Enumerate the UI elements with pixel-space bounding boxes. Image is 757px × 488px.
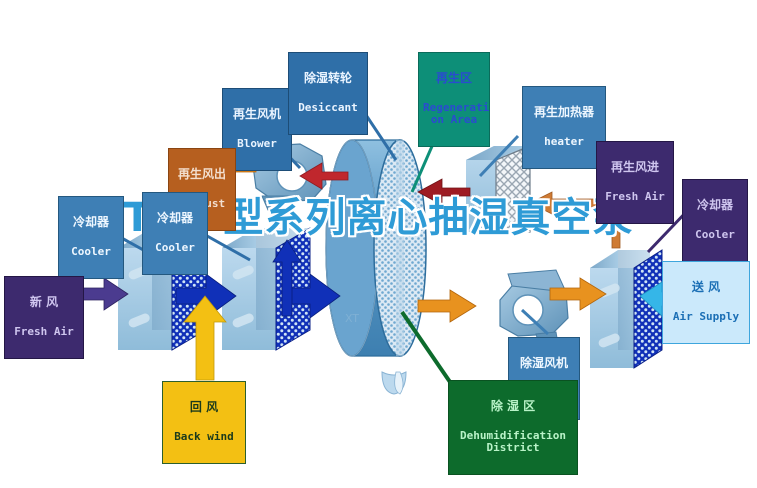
label-desiccant[interactable]: 除湿转轮 Desiccant bbox=[288, 52, 368, 135]
label-regen-blower-en: Blower bbox=[227, 138, 287, 150]
label-regen-heater-en: heater bbox=[527, 136, 601, 148]
label-cooler-left-2-cn: 冷却器 bbox=[147, 212, 203, 225]
label-exhaust-cn: 再生风出 bbox=[173, 168, 231, 181]
label-back-wind[interactable]: 回 风 Back wind bbox=[162, 381, 246, 464]
label-cooler-left-1-en: Cooler bbox=[63, 246, 119, 258]
diagram-canvas: XT bbox=[0, 0, 757, 488]
label-desiccant-cn: 除湿转轮 bbox=[293, 72, 363, 85]
svg-text:XT: XT bbox=[345, 312, 359, 325]
label-fresh-air[interactable]: 新 风 Fresh Air bbox=[4, 276, 84, 359]
label-cooler-left-1[interactable]: 冷却器 Cooler bbox=[58, 196, 124, 279]
label-fresh-air-regen[interactable]: 再生风进 Fresh Air bbox=[596, 141, 674, 224]
label-regeneration-area[interactable]: 再生区 Regenerati on Area bbox=[418, 52, 490, 147]
label-desiccant-en: Desiccant bbox=[293, 102, 363, 114]
label-air-supply-en: Air Supply bbox=[667, 311, 745, 323]
label-air-supply-cn: 送 风 bbox=[667, 281, 745, 294]
label-dehumidification-district-cn: 除 湿 区 bbox=[453, 400, 573, 413]
label-cooler-right-en: Cooler bbox=[687, 229, 743, 241]
label-back-wind-cn: 回 风 bbox=[167, 401, 241, 414]
label-fresh-air-en: Fresh Air bbox=[9, 326, 79, 338]
condensate-drip bbox=[382, 372, 406, 394]
arrow-heater-to-wheel bbox=[418, 179, 470, 205]
label-dehumidification-district-en: Dehumidification District bbox=[453, 430, 573, 454]
label-regen-heater[interactable]: 再生加热器 heater bbox=[522, 86, 606, 169]
label-back-wind-en: Back wind bbox=[167, 431, 241, 443]
label-cooler-left-1-cn: 冷却器 bbox=[63, 216, 119, 229]
cooler-block-3 bbox=[590, 250, 662, 368]
label-cooler-right[interactable]: 冷却器 Cooler bbox=[682, 179, 748, 262]
label-cooler-left-2-en: Cooler bbox=[147, 242, 203, 254]
label-cooler-left-2[interactable]: 冷却器 Cooler bbox=[142, 192, 208, 275]
label-fresh-air-regen-en: Fresh Air bbox=[601, 191, 669, 203]
label-air-supply[interactable]: 送 风 Air Supply bbox=[662, 261, 750, 344]
label-regeneration-area-cn: 再生区 bbox=[423, 72, 485, 85]
label-regen-blower-cn: 再生风机 bbox=[227, 108, 287, 121]
label-fresh-air-cn: 新 风 bbox=[9, 296, 79, 309]
label-cooler-right-cn: 冷却器 bbox=[687, 199, 743, 212]
label-dehumidification-district[interactable]: 除 湿 区 Dehumidification District bbox=[448, 380, 578, 475]
label-fresh-air-regen-cn: 再生风进 bbox=[601, 161, 669, 174]
label-regeneration-area-en: Regenerati on Area bbox=[423, 102, 485, 126]
label-regen-heater-cn: 再生加热器 bbox=[527, 106, 601, 119]
arrow-wheel-to-blower bbox=[418, 290, 476, 322]
label-dehum-blower-cn: 除湿风机 bbox=[513, 357, 575, 370]
